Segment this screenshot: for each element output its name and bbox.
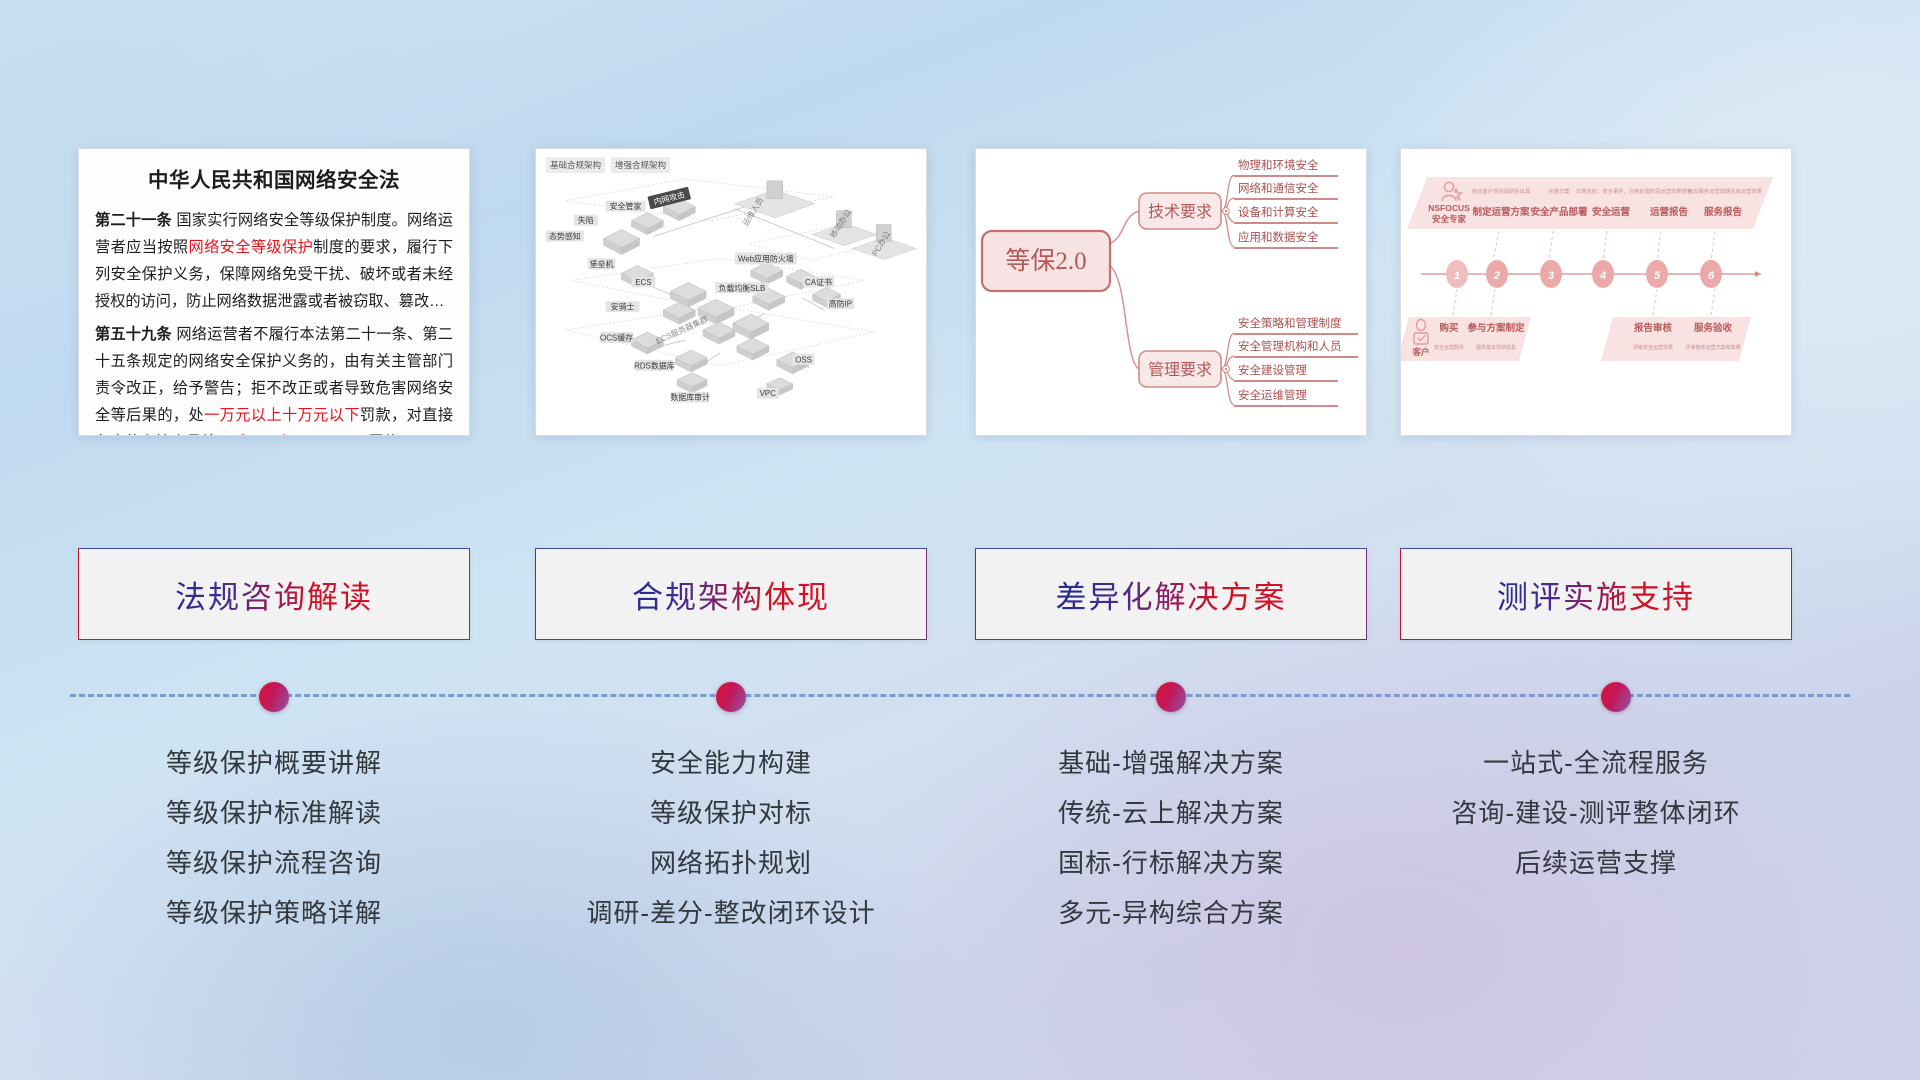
slide-canvas: 中华人民共和国网络安全法 第二十一条 国家实行网络安全等级保护制度。网络运营者应… bbox=[0, 0, 1920, 1080]
mindmap-leaf: 网络和通信安全 bbox=[1238, 181, 1319, 195]
heading-label-2: 合规架构体现 bbox=[632, 572, 830, 617]
bullet-column-4: 一站式-全流程服务 咨询-建设-测评整体闭环 后续运营支撑 bbox=[1400, 738, 1792, 888]
heading-box-1[interactable]: 法规咨询解读 bbox=[78, 548, 470, 640]
card-mindmap-dengbao: 等保2.0 技术要求 管理要求 物理和环境安全 网络和通信安 bbox=[975, 148, 1367, 436]
bullet-columns-row: 等级保护概要讲解 等级保护标准解读 等级保护流程咨询 等级保护策略详解 安全能力… bbox=[0, 738, 1920, 968]
mindmap-leaf: 安全运维管理 bbox=[1238, 388, 1307, 402]
mindmap-leaf: 物理和环境安全 bbox=[1238, 158, 1319, 172]
mindmap-collapse-dot-tech bbox=[1225, 210, 1227, 212]
flow-bottom-sub: 评审整体运营方案和效果 bbox=[1685, 344, 1740, 351]
bullet-item: 等级保护概要讲解 bbox=[78, 738, 470, 788]
flow-top-sub: 阶段运营效果报告 bbox=[1650, 187, 1692, 195]
bullet-item: 基础-增强解决方案 bbox=[975, 738, 1367, 788]
flow-step-number: 4 bbox=[1599, 270, 1606, 282]
arch-node-label: Web应用防火墙 bbox=[738, 253, 794, 263]
flow-bottom-sub: 安全运营服务 bbox=[1434, 344, 1464, 351]
heading-label-4: 测评实施支持 bbox=[1497, 572, 1695, 617]
flow-step-number: 6 bbox=[1708, 270, 1715, 282]
bullet-item: 一站式-全流程服务 bbox=[1400, 738, 1792, 788]
bullet-item: 等级保护策略详解 bbox=[78, 888, 470, 938]
timeline-dot-3 bbox=[1156, 682, 1186, 712]
mindmap-leaf: 设备和计算安全 bbox=[1238, 205, 1319, 219]
flow-top-title: 安全运营 bbox=[1592, 206, 1631, 218]
arch-node-label: 负载均衡SLB bbox=[719, 283, 766, 293]
architecture-diagram: 基础合规架构 增强合规架构 bbox=[536, 149, 926, 435]
arch-node-label: 态势感知 bbox=[549, 231, 581, 241]
arch-node-label: OSS bbox=[795, 355, 812, 364]
law-seg-highlight: 一万元以上十万元以下 bbox=[204, 407, 360, 424]
bullet-item: 等级保护标准解读 bbox=[78, 788, 470, 838]
law-article-number: 第五十九条 bbox=[95, 326, 172, 343]
timeline-dot-2 bbox=[716, 682, 746, 712]
mindmap: 等保2.0 技术要求 管理要求 物理和环境安全 网络和通信安 bbox=[976, 149, 1366, 435]
flow-bottom-title: 购买 bbox=[1439, 322, 1459, 334]
image-cards-row: 中华人民共和国网络安全法 第二十一条 国家实行网络安全等级保护制度。网络运营者应… bbox=[0, 148, 1920, 440]
arch-node-label: RDS数据库 bbox=[634, 360, 675, 370]
architecture-svg: 内网攻击 安全管家 失陷 态势感知 堡垒机 ECS bbox=[536, 149, 926, 436]
arch-node-label: 安全管家 bbox=[610, 201, 642, 211]
arch-node-label: 失陷 bbox=[578, 215, 594, 225]
mindmap-leaf: 安全建设管理 bbox=[1238, 363, 1307, 377]
bullet-column-1: 等级保护概要讲解 等级保护标准解读 等级保护流程咨询 等级保护策略详解 bbox=[78, 738, 470, 938]
bullet-item: 咨询-建设-测评整体闭环 bbox=[1400, 788, 1792, 838]
heading-label-1: 法规咨询解读 bbox=[175, 572, 373, 617]
flow-bottom-sub: 提供基本现状信息 bbox=[1476, 344, 1516, 351]
flow-timeline-arrow bbox=[1755, 271, 1761, 277]
law-seg: 罚款。 bbox=[368, 434, 414, 436]
service-flow-diagram: NSFOCUS 安全专家 客户 制定运营方案 结合客户现状调研后出具 安全产品部… bbox=[1401, 149, 1791, 435]
flow-top-sub: 给出服务运营周期总体运营效果 bbox=[1688, 187, 1763, 195]
bullet-item: 安全能力构建 bbox=[535, 738, 927, 788]
law-paragraph-59: 第五十九条 网络运营者不履行本法第二十一条、第二十五条规定的网络安全保护义务的，… bbox=[95, 321, 453, 436]
law-seg-highlight: 五千元以上五万元以下 bbox=[217, 434, 369, 436]
flow-step-number: 1 bbox=[1454, 270, 1460, 282]
mindmap-root-label: 等保2.0 bbox=[1005, 247, 1086, 275]
card-cloud-architecture: 基础合规架构 增强合规架构 bbox=[535, 148, 927, 436]
flow-top-title: 制定运营方案 bbox=[1472, 206, 1530, 218]
mindmap-collapse-dot-mgmt bbox=[1225, 368, 1227, 370]
heading-label-3: 差异化解决方案 bbox=[1056, 572, 1287, 617]
bullet-item: 网络拓扑规划 bbox=[535, 838, 927, 888]
law-paragraph-21: 第二十一条 国家实行网络安全等级保护制度。网络运营者应当按照网络安全等级保护制度… bbox=[95, 207, 453, 315]
law-seg-highlight: 网络安全等级保护 bbox=[189, 239, 314, 256]
timeline-dashed-line bbox=[70, 694, 1850, 698]
arch-node-label: ECS bbox=[635, 278, 651, 287]
flow-bottom-title: 服务验收 bbox=[1694, 322, 1733, 334]
mindmap-leaf: 安全管理机构和人员 bbox=[1238, 339, 1342, 353]
mindmap-branch-tech-label: 技术要求 bbox=[1148, 203, 1212, 221]
bullet-item: 等级保护流程咨询 bbox=[78, 838, 470, 888]
law-article-number: 第二十一条 bbox=[95, 212, 172, 229]
bullet-item: 传统-云上解决方案 bbox=[975, 788, 1367, 838]
timeline-dot-4 bbox=[1601, 682, 1631, 712]
arch-node-label: 数据库审计 bbox=[670, 392, 710, 402]
flow-top-title: 运营报告 bbox=[1650, 206, 1689, 218]
flow-bottom-sub: 评审安全运营效果 bbox=[1633, 344, 1673, 351]
law-card-title: 中华人民共和国网络安全法 bbox=[95, 163, 453, 193]
flow-bottom-title: 参与方案制定 bbox=[1466, 322, 1525, 334]
flow-top-title: 服务报告 bbox=[1704, 206, 1743, 218]
flow-step-number: 3 bbox=[1548, 270, 1554, 282]
flow-bottom-title: 报告审核 bbox=[1634, 322, 1673, 334]
bullet-column-2: 安全能力构建 等级保护对标 网络拓扑规划 调研-差分-整改闭环设计 bbox=[535, 738, 927, 938]
flow-top-sub: 日常巡检、安全事件、应用处置 bbox=[1576, 187, 1650, 195]
headings-row: 法规咨询解读 合规架构体现 差异化解决方案 测评实施支持 bbox=[0, 548, 1920, 644]
arch-node-label: CA证书 bbox=[805, 277, 832, 287]
bullet-item: 后续运营支撑 bbox=[1400, 838, 1792, 888]
bullet-item: 国标-行标解决方案 bbox=[975, 838, 1367, 888]
bullet-item: 调研-差分-整改闭环设计 bbox=[535, 888, 927, 938]
bullet-item: 多元-异构综合方案 bbox=[975, 888, 1367, 938]
flow-step-number: 2 bbox=[1493, 270, 1500, 282]
flow-expert-line1: NSFOCUS bbox=[1428, 203, 1470, 213]
timeline-dot-1 bbox=[259, 682, 289, 712]
heading-box-3[interactable]: 差异化解决方案 bbox=[975, 548, 1367, 640]
mindmap-leaf: 应用和数据安全 bbox=[1238, 230, 1319, 244]
flow-top-sub: 结合客户现状调研后出具 bbox=[1472, 187, 1531, 195]
arch-node-label: 堡垒机 bbox=[590, 259, 614, 269]
bullet-column-3: 基础-增强解决方案 传统-云上解决方案 国标-行标解决方案 多元-异构综合方案 bbox=[975, 738, 1367, 938]
flow-customer-label: 客户 bbox=[1411, 347, 1429, 357]
arch-node-label: 安骑士 bbox=[611, 302, 635, 312]
heading-box-2[interactable]: 合规架构体现 bbox=[535, 548, 927, 640]
card-service-flow: NSFOCUS 安全专家 客户 制定运营方案 结合客户现状调研后出具 安全产品部… bbox=[1400, 148, 1792, 436]
flow-top-title: 安全产品部署 bbox=[1530, 206, 1588, 218]
service-flow-svg: NSFOCUS 安全专家 客户 制定运营方案 结合客户现状调研后出具 安全产品部… bbox=[1401, 149, 1792, 436]
heading-box-4[interactable]: 测评实施支持 bbox=[1400, 548, 1792, 640]
mindmap-leaf: 安全策略和管理制度 bbox=[1238, 316, 1342, 330]
arch-node-label: 高防IP bbox=[829, 299, 852, 309]
mindmap-svg: 等保2.0 技术要求 管理要求 物理和环境安全 网络和通信安 bbox=[976, 149, 1367, 436]
flow-expert-line2: 安全专家 bbox=[1432, 214, 1467, 224]
arch-node-label: VPC bbox=[760, 389, 777, 398]
bullet-item: 等级保护对标 bbox=[535, 788, 927, 838]
arch-node-label: OCS缓存 bbox=[600, 333, 633, 343]
card-cybersecurity-law: 中华人民共和国网络安全法 第二十一条 国家实行网络安全等级保护制度。网络运营者应… bbox=[78, 148, 470, 436]
mindmap-branch-mgmt-label: 管理要求 bbox=[1148, 361, 1212, 379]
flow-step-number: 5 bbox=[1654, 270, 1661, 282]
flow-top-sub: 实施方案 bbox=[1548, 187, 1570, 195]
